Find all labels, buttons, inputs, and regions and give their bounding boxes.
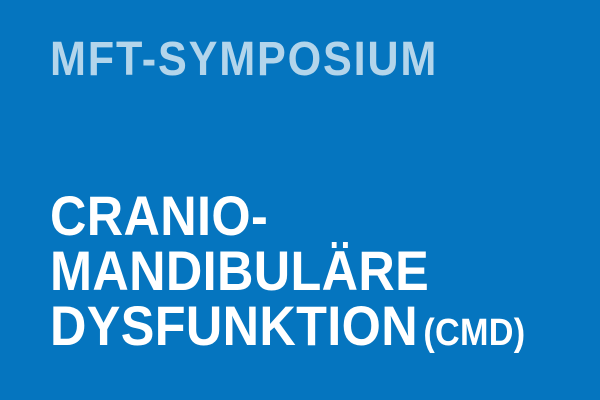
kicker-text: MFT-SYMPOSIUM xyxy=(50,36,438,84)
headline-line-3-main: DYSFUNKTION xyxy=(50,294,418,357)
headline-line-1: CRANIO- xyxy=(50,188,525,243)
headline-abbreviation: (CMD) xyxy=(423,312,525,354)
headline-line-3: DYSFUNKTION(CMD) xyxy=(50,298,525,361)
headline-block: CRANIO- MANDIBULÄRE DYSFUNKTION(CMD) xyxy=(50,188,525,361)
poster-canvas: MFT-SYMPOSIUM CRANIO- MANDIBULÄRE DYSFUN… xyxy=(0,0,600,400)
headline-line-2: MANDIBULÄRE xyxy=(50,243,525,298)
